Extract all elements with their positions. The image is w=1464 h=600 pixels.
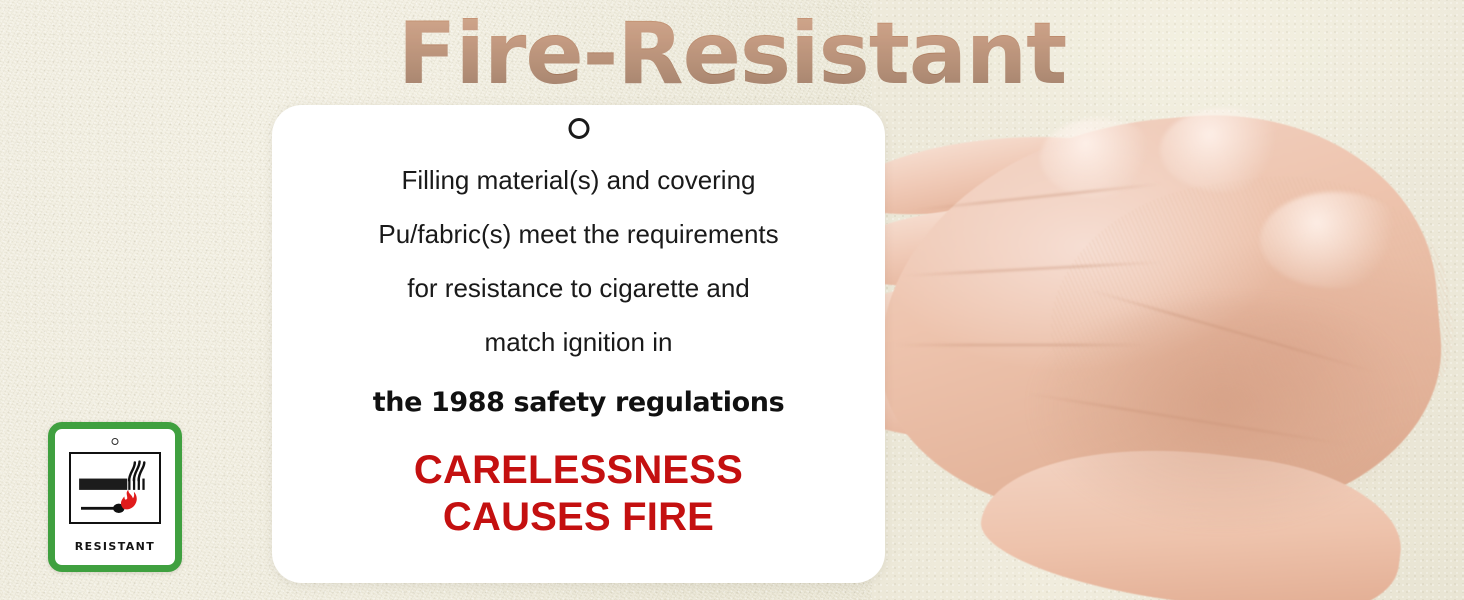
knuckle-highlight <box>1260 192 1410 288</box>
label-line: for resistance to cigarette and <box>294 261 863 315</box>
label-line: Filling material(s) and covering <box>294 153 863 207</box>
label-line: Pu/fabric(s) meet the requirements <box>294 207 863 261</box>
warning-text: CARELESSNESS CAUSES FIRE <box>294 447 863 541</box>
cigarette-and-match-icon <box>69 452 161 524</box>
badge-caption: RESISTANT <box>55 540 175 553</box>
warning-line-2: CAUSES FIRE <box>294 494 863 541</box>
fire-resistant-badge: RESISTANT <box>48 422 182 572</box>
knuckle-highlight <box>1160 108 1290 192</box>
warning-line-1: CARELESSNESS <box>294 447 863 494</box>
flame-icon <box>121 490 137 509</box>
cigarette-tip-hatch <box>128 479 130 490</box>
punch-hole-icon <box>568 118 589 139</box>
cigarette-tip-hatch <box>142 479 144 490</box>
regulation-line: the 1988 safety regulations <box>294 381 863 425</box>
match-stick <box>81 507 117 510</box>
cigarette-tip-hatch <box>133 479 135 490</box>
punch-hole-icon <box>112 438 119 445</box>
label-card: Filling material(s) and covering Pu/fabr… <box>272 105 885 583</box>
cigarette-and-match-svg <box>71 454 159 522</box>
fire-resistant-banner: Fire-Resistant Filling material(s) and c… <box>0 0 1464 600</box>
page-title: Fire-Resistant <box>0 6 1464 102</box>
label-line: match ignition in <box>294 315 863 369</box>
cigarette-tip-hatch <box>138 479 140 490</box>
label-card-body: Filling material(s) and covering Pu/fabr… <box>272 153 885 541</box>
cigarette-body <box>79 479 127 490</box>
